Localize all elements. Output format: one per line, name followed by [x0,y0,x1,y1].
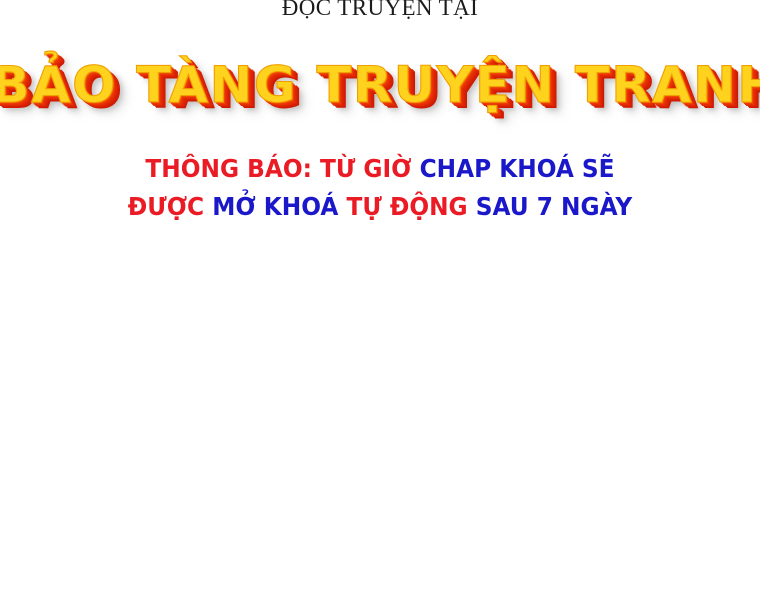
announcement-block: THÔNG BÁO: TỪ GIỜ CHAP KHOÁ SẼ ĐƯỢC MỞ K… [0,150,760,226]
announcement-line-2-blue-1: MỞ KHOÁ [212,192,338,221]
comic-page-banner: ĐỌC TRUYỆN TẠI BẢO TÀNG TRUYỆN TRANH.COM… [0,0,760,600]
announcement-line-2-blue-2: SAU 7 NGÀY [476,192,632,221]
announcement-line-1: THÔNG BÁO: TỪ GIỜ CHAP KHOÁ SẼ [27,150,734,188]
announcement-line-2-red-1: ĐƯỢC [128,192,204,221]
announcement-line-1-blue: CHAP KHOÁ SẼ [420,154,615,183]
announcement-line-1-red: THÔNG BÁO: TỪ GIỜ [145,154,411,183]
site-logo: BẢO TÀNG TRUYỆN TRANH.COM [0,52,760,126]
announcement-line-2: ĐƯỢC MỞ KHOÁ TỰ ĐỘNG SAU 7 NGÀY [27,188,734,226]
site-logo-wordmark: BẢO TÀNG TRUYỆN TRANH.COM [0,52,760,118]
announcement-line-2-red-2: TỰ ĐỘNG [346,192,467,221]
read-comic-at-label: ĐỌC TRUYỆN TẠI [0,0,760,22]
